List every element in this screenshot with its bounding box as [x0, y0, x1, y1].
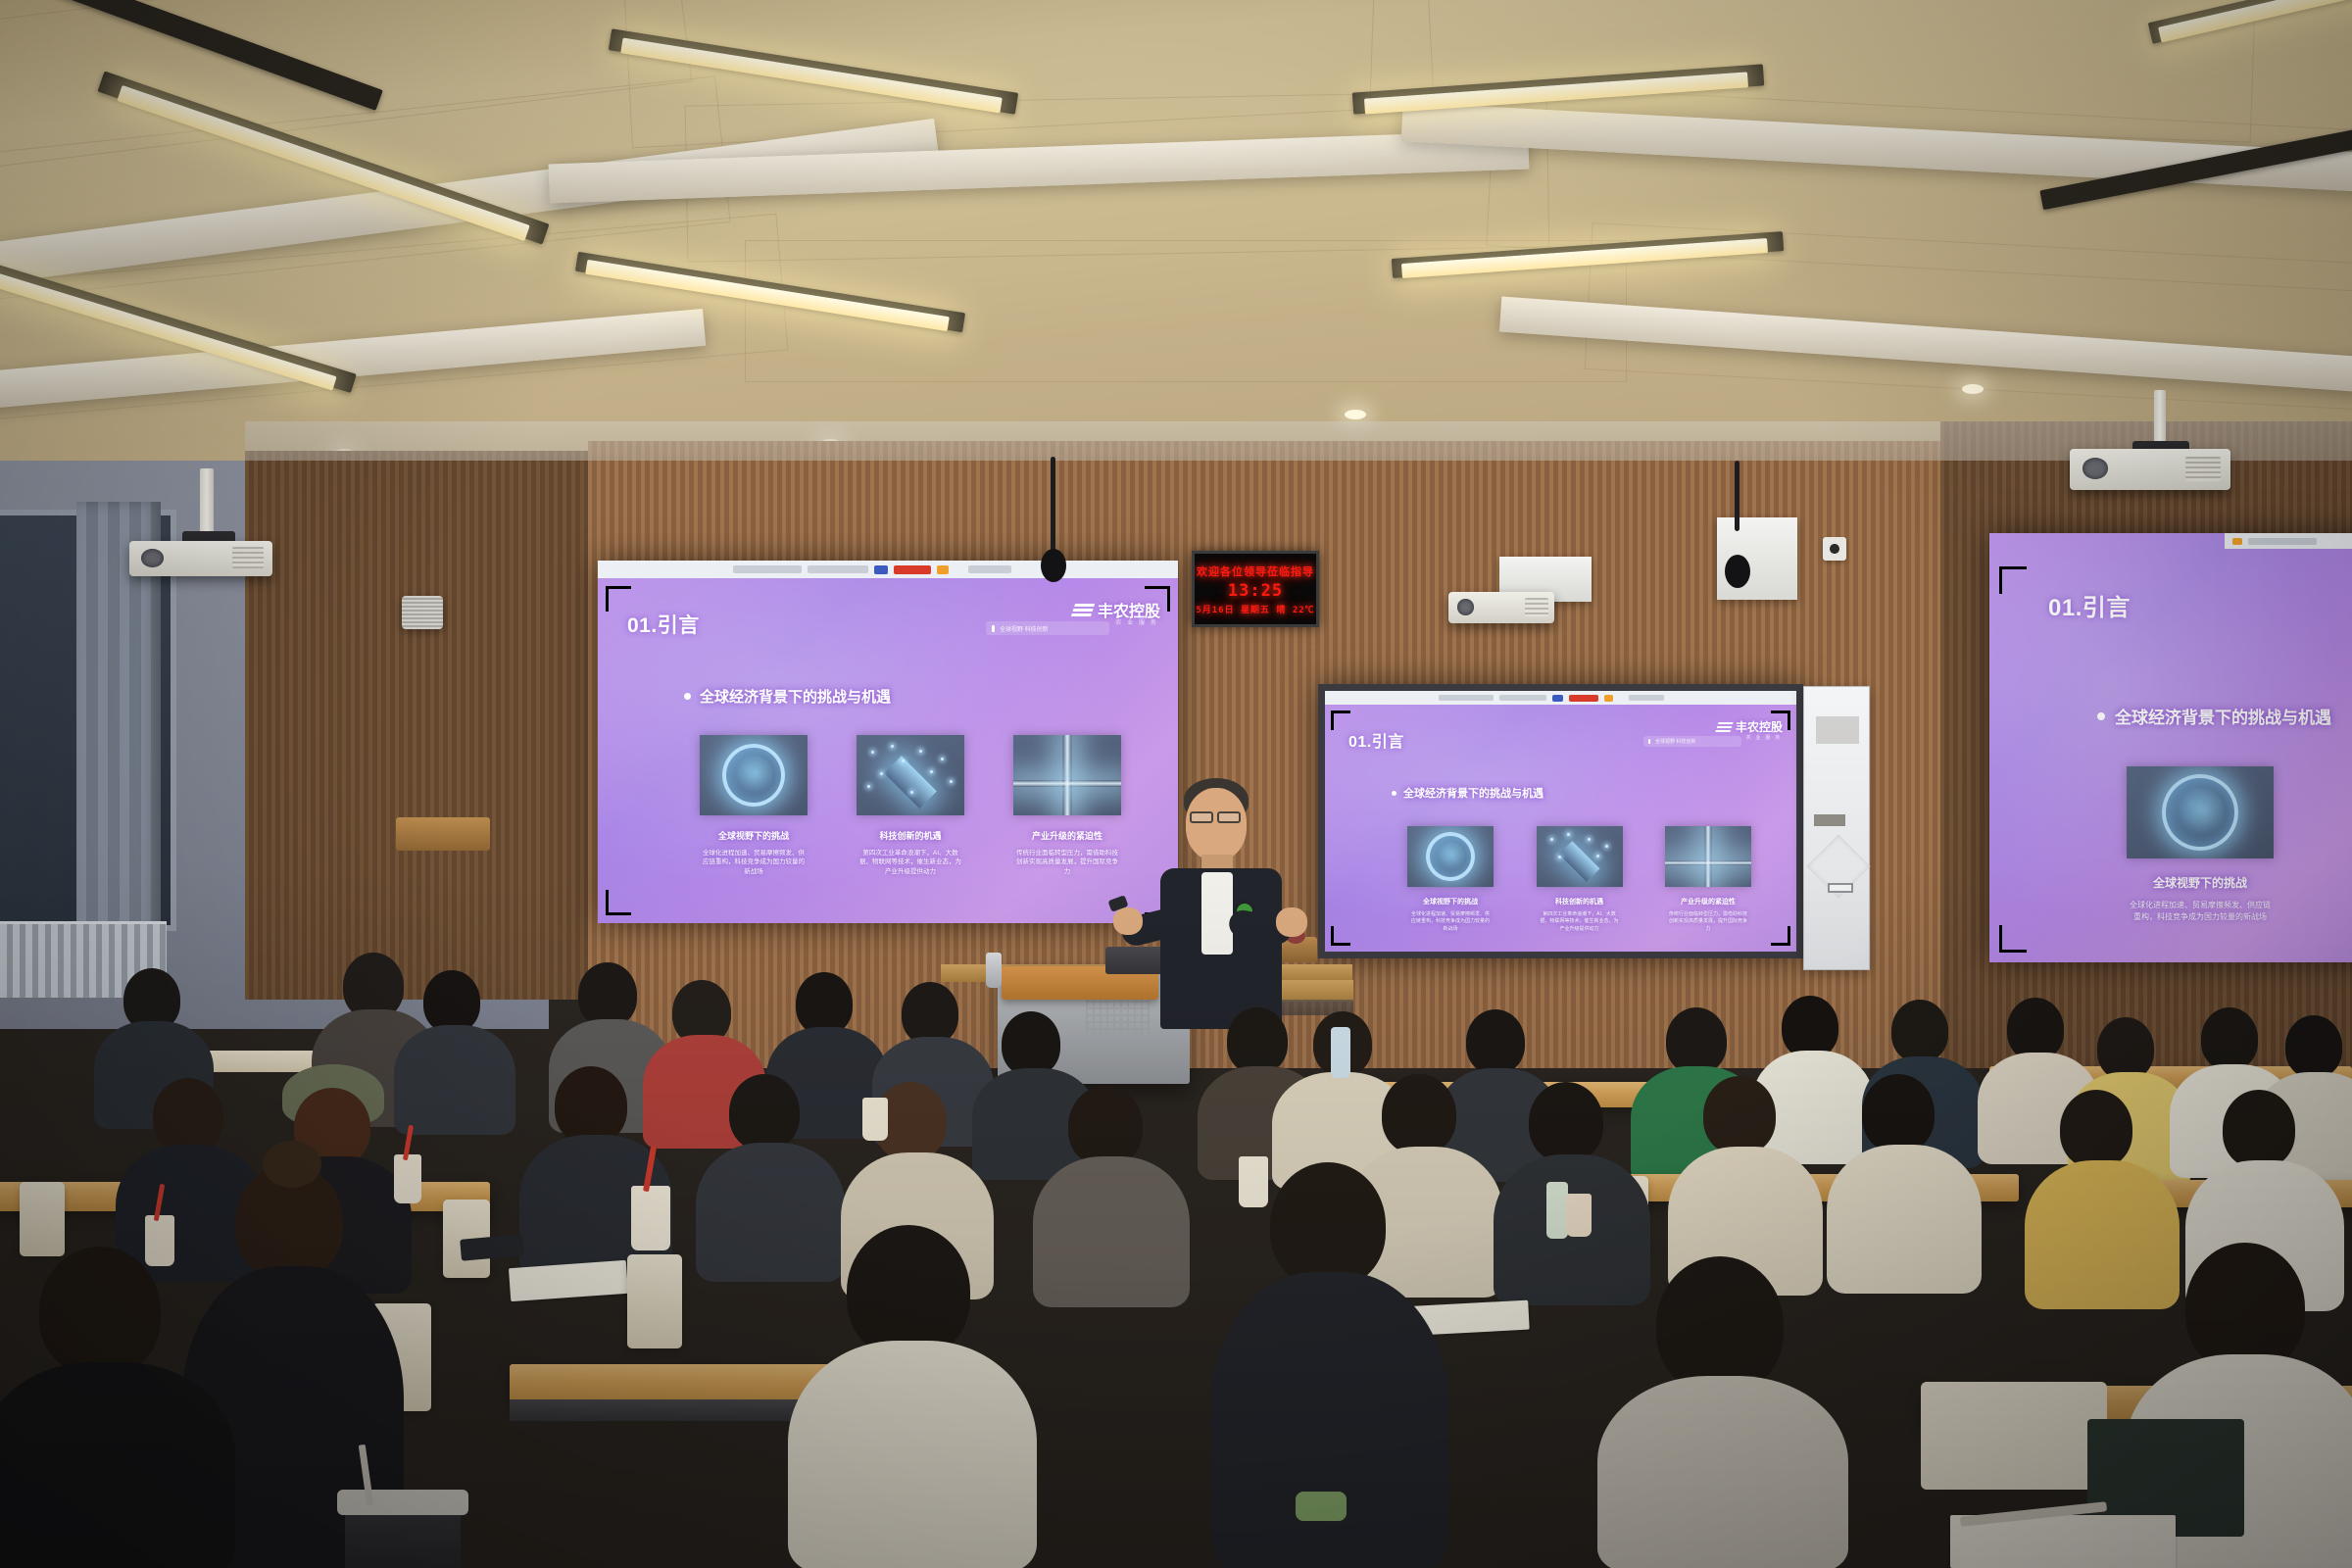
- slide-bullet-row: 全球经济背景下的挑战与机遇: [1392, 785, 1543, 801]
- card-body: 第四次工业革命浪潮下，AI、大数据、物联网等技术，催生新业态，为产业升级提供动力: [1539, 911, 1621, 933]
- drink-cup[interactable]: [145, 1215, 174, 1266]
- card-image-network: [1537, 826, 1623, 887]
- card-image-globe: [700, 735, 808, 815]
- audience-head: [153, 1078, 223, 1154]
- audience-head: [1270, 1162, 1386, 1288]
- right-slide: 01.引言 全球经济背景下的挑战与机遇 全球视野下的挑战 全球化进程加速、贸易摩…: [1989, 533, 2352, 962]
- audience-body: [2025, 1160, 2180, 1309]
- center-screen: 01.引言 丰农控股 农 业 服 务 全球视野 科技创新 全球经济背景下的挑战与…: [1318, 684, 1803, 958]
- presenter-glasses: [1190, 811, 1213, 823]
- hanging-microphone-cable: [1735, 461, 1739, 531]
- center-slide: 01.引言 丰农控股 农 业 服 务 全球视野 科技创新 全球经济背景下的挑战与…: [1325, 691, 1796, 952]
- audience-head: [1382, 1074, 1456, 1154]
- projector-mount-pole: [2154, 390, 2166, 449]
- audience-head: [2285, 1015, 2342, 1078]
- card-body: 全球化进程加速、贸易摩擦频发、供应链重构，科技竞争成为国力较量的新战场: [2130, 900, 2271, 922]
- card-image-network: [857, 735, 964, 815]
- water-bottle[interactable]: [1546, 1182, 1568, 1239]
- audience-body: [1211, 1272, 1448, 1568]
- drink-cup[interactable]: [1566, 1194, 1592, 1237]
- presenter: [1127, 774, 1313, 1029]
- brand-subtitle: 农 业 服 务: [1115, 617, 1158, 626]
- wall-upper-band: [245, 421, 2352, 461]
- audience-body: [1597, 1376, 1848, 1568]
- projector-mount-pole: [200, 468, 214, 535]
- presenter-left-hand: [1113, 907, 1143, 935]
- wall-speaker: [402, 596, 443, 629]
- thermos-bottle: [986, 953, 1002, 988]
- audience-head: [2201, 1007, 2258, 1070]
- card-image-lightburst: [1665, 826, 1751, 887]
- slide-cards: 全球视野下的挑战 全球化进程加速、贸易摩擦频发、供应链重构，科技竞争成为国力较量…: [2127, 766, 2352, 934]
- hanging-microphone: [1725, 555, 1750, 588]
- slide-bullet-row: 全球经济背景下的挑战与机遇: [2097, 704, 2331, 728]
- audience-hair-clip: [1296, 1492, 1347, 1521]
- lecture-hall-photo: 01.引言 丰农控股 农 业 服 务 全球视野 科技创新 全球经济背景下的挑战与…: [0, 0, 2352, 1568]
- audience-head: [1666, 1007, 1727, 1074]
- card-image-globe: [1407, 826, 1494, 887]
- ceiling-projector: [2070, 449, 2230, 490]
- audience-head: [729, 1074, 800, 1151]
- smartphone[interactable]: [460, 1234, 524, 1260]
- cabinet-label: [1814, 814, 1845, 826]
- audience-head: [555, 1066, 627, 1145]
- cabinet-slot[interactable]: [1828, 883, 1853, 893]
- presenter-shirt-front: [1201, 872, 1233, 955]
- ceiling-projector: [129, 541, 272, 576]
- recessed-downlight: [1962, 384, 1984, 394]
- drink-cup[interactable]: [631, 1186, 670, 1250]
- slide-card: 产业升级的紧迫性 传统行业面临转型压力，需借助科技创新实现高质量发展，提升国际竞…: [1013, 735, 1121, 876]
- power-outlet[interactable]: [1823, 537, 1846, 561]
- audience-body: [696, 1143, 845, 1282]
- slide-card: 全球视野下的挑战 全球化进程加速、贸易摩擦频发、供应链重构，科技竞争成为国力较量…: [700, 735, 808, 876]
- slide-bullet-row: 全球经济背景下的挑战与机遇: [684, 686, 891, 707]
- audience-head: [1227, 1007, 1288, 1074]
- audience-head: [2223, 1090, 2295, 1168]
- led-line-1: 欢迎各位领导莅临指导: [1197, 563, 1314, 579]
- led-information-display: 欢迎各位领导莅临指导 13:25 5月16日 星期五 晴 22℃: [1192, 551, 1319, 627]
- card-heading: 科技创新的机遇: [1555, 897, 1603, 906]
- card-body: 全球化进程加速、贸易摩擦频发、供应链重构，科技竞争成为国力较量的新战场: [703, 849, 805, 876]
- card-image-lightburst: [1013, 735, 1121, 815]
- audience-head: [1068, 1086, 1143, 1166]
- wall-decor-box: [396, 817, 490, 851]
- slide-card: 产业升级的紧迫性 传统行业面临转型压力，需借助科技创新实现高质量发展，提升国际竞…: [1665, 826, 1751, 933]
- presenter-head: [1186, 788, 1247, 860]
- brand-name: 丰农控股: [1736, 718, 1783, 735]
- audience-head: [902, 982, 958, 1045]
- slide-cards: 全球视野下的挑战 全球化进程加速、贸易摩擦频发、供应链重构，科技竞争成为国力较量…: [700, 735, 1121, 876]
- audience-head: [1703, 1076, 1776, 1154]
- audience-body: [0, 1362, 235, 1568]
- browser-toolbar[interactable]: [598, 561, 1178, 578]
- audience-body: [394, 1025, 515, 1135]
- badge-dot: [992, 625, 995, 632]
- card-image-globe: [2127, 766, 2274, 858]
- audience-head: [1782, 996, 1838, 1058]
- audience-head: [2060, 1090, 2132, 1168]
- card-heading: 全球视野下的挑战: [2153, 874, 2247, 891]
- slide-bullet-text: 全球经济背景下的挑战与机遇: [2115, 704, 2331, 728]
- audience-body: [788, 1341, 1037, 1568]
- audience-head: [1656, 1256, 1784, 1394]
- card-heading: 产业升级的紧迫性: [1032, 829, 1102, 842]
- notebook-page[interactable]: [509, 1260, 628, 1301]
- slide-title: 01.引言: [1348, 728, 1404, 752]
- handbag[interactable]: [1921, 1382, 2107, 1490]
- drink-cup[interactable]: [1239, 1156, 1268, 1207]
- audience-head: [796, 972, 853, 1035]
- card-heading: 全球视野下的挑战: [1423, 897, 1478, 906]
- bullet-dot-icon: [684, 693, 691, 700]
- badge-dot: [1648, 739, 1650, 744]
- audience-head: [2097, 1017, 2154, 1080]
- recessed-downlight: [1345, 410, 1366, 419]
- bullet-dot-icon: [2097, 712, 2105, 720]
- left-slide: 01.引言 丰农控股 农 业 服 务 全球视野 科技创新 全球经济背景下的挑战与…: [598, 561, 1178, 923]
- audience-head: [2185, 1243, 2305, 1372]
- audience-head: [2007, 998, 2064, 1060]
- av-equipment-cabinet[interactable]: [1803, 686, 1870, 970]
- audience-head: [1891, 1000, 1948, 1062]
- presenter-glasses: [1217, 811, 1241, 823]
- slide-badge: 全球视野 科技创新: [1643, 736, 1741, 747]
- audience-head: [847, 1225, 970, 1358]
- right-screen: 01.引言 全球经济背景下的挑战与机遇 全球视野下的挑战 全球化进程加速、贸易摩…: [1989, 533, 2352, 962]
- drink-cup[interactable]: [862, 1098, 888, 1141]
- hanging-microphone-cable: [1051, 457, 1055, 555]
- led-line-2: 13:25: [1228, 581, 1283, 601]
- brand-logo: 丰农控股: [1717, 718, 1783, 735]
- brand-logo-mark: [1071, 604, 1095, 616]
- audience-head: [423, 970, 480, 1033]
- slide-bullet-text: 全球经济背景下的挑战与机遇: [1403, 785, 1543, 801]
- audience-head: [1002, 1011, 1060, 1076]
- presenter-right-hand: [1276, 907, 1307, 937]
- browser-toolbar[interactable]: [2225, 533, 2352, 549]
- audience-head: [39, 1247, 161, 1376]
- slide-title: 01.引言: [2048, 588, 2131, 622]
- audience-head: [578, 962, 637, 1027]
- card-body: 传统行业面临转型压力，需借助科技创新实现高质量发展，提升国际竞争力: [1667, 911, 1749, 933]
- card-heading: 产业升级的紧迫性: [1681, 897, 1736, 906]
- slide-card: 全球视野下的挑战 全球化进程加速、贸易摩擦频发、供应链重构，科技竞争成为国力较量…: [1407, 826, 1494, 933]
- audience-hair-bun: [263, 1141, 321, 1188]
- ceiling-projector: [1448, 592, 1554, 623]
- cup-lid[interactable]: [337, 1490, 468, 1515]
- card-body: 第四次工业革命浪潮下，AI、大数据、物联网等技术，催生新业态，为产业升级提供动力: [859, 849, 961, 876]
- slide-card: 全球视野下的挑战 全球化进程加速、贸易摩擦频发、供应链重构，科技竞争成为国力较量…: [2127, 766, 2274, 934]
- brand-logo-mark: [1716, 722, 1734, 732]
- drink-cup[interactable]: [394, 1154, 421, 1203]
- chair: [627, 1254, 682, 1348]
- brand-subtitle: 农 业 服 务: [1746, 734, 1782, 741]
- audience-head: [1466, 1009, 1525, 1074]
- led-line-3: 5月16日 星期五 晴 22℃: [1196, 603, 1314, 615]
- browser-toolbar[interactable]: [1325, 691, 1796, 705]
- slide-title: 01.引言: [627, 610, 700, 639]
- slide-cards: 全球视野下的挑战 全球化进程加速、贸易摩擦频发、供应链重构，科技竞争成为国力较量…: [1407, 826, 1751, 933]
- card-body: 全球化进程加速、贸易摩擦频发、供应链重构，科技竞争成为国力较量的新战场: [1409, 911, 1492, 933]
- card-heading: 全球视野下的挑战: [718, 829, 789, 842]
- audience-head: [1862, 1074, 1935, 1152]
- bullet-dot-icon: [1392, 791, 1396, 796]
- card-body: 传统行业面临转型压力，需借助科技创新实现高质量发展，提升国际竞争力: [1016, 849, 1118, 876]
- slide-badge: 全球视野 科技创新: [986, 621, 1109, 635]
- hanging-microphone: [1041, 549, 1066, 582]
- slide-bullet-text: 全球经济背景下的挑战与机遇: [700, 686, 891, 707]
- audience-body: [1033, 1156, 1190, 1307]
- left-screen: 01.引言 丰农控股 农 业 服 务 全球视野 科技创新 全球经济背景下的挑战与…: [598, 561, 1178, 923]
- water-bottle[interactable]: [1331, 1027, 1350, 1078]
- badge-text: 全球视野 科技创新: [1655, 738, 1695, 745]
- card-heading: 科技创新的机遇: [879, 829, 941, 842]
- slide-card: 科技创新的机遇 第四次工业革命浪潮下，AI、大数据、物联网等技术，催生新业态，为…: [857, 735, 964, 876]
- badge-text: 全球视野 科技创新: [1000, 624, 1049, 633]
- audience-body: [1827, 1145, 1982, 1294]
- chair: [20, 1182, 65, 1256]
- slide-card: 科技创新的机遇 第四次工业革命浪潮下，AI、大数据、物联网等技术，催生新业态，为…: [1537, 826, 1623, 933]
- audience-head: [1529, 1082, 1603, 1162]
